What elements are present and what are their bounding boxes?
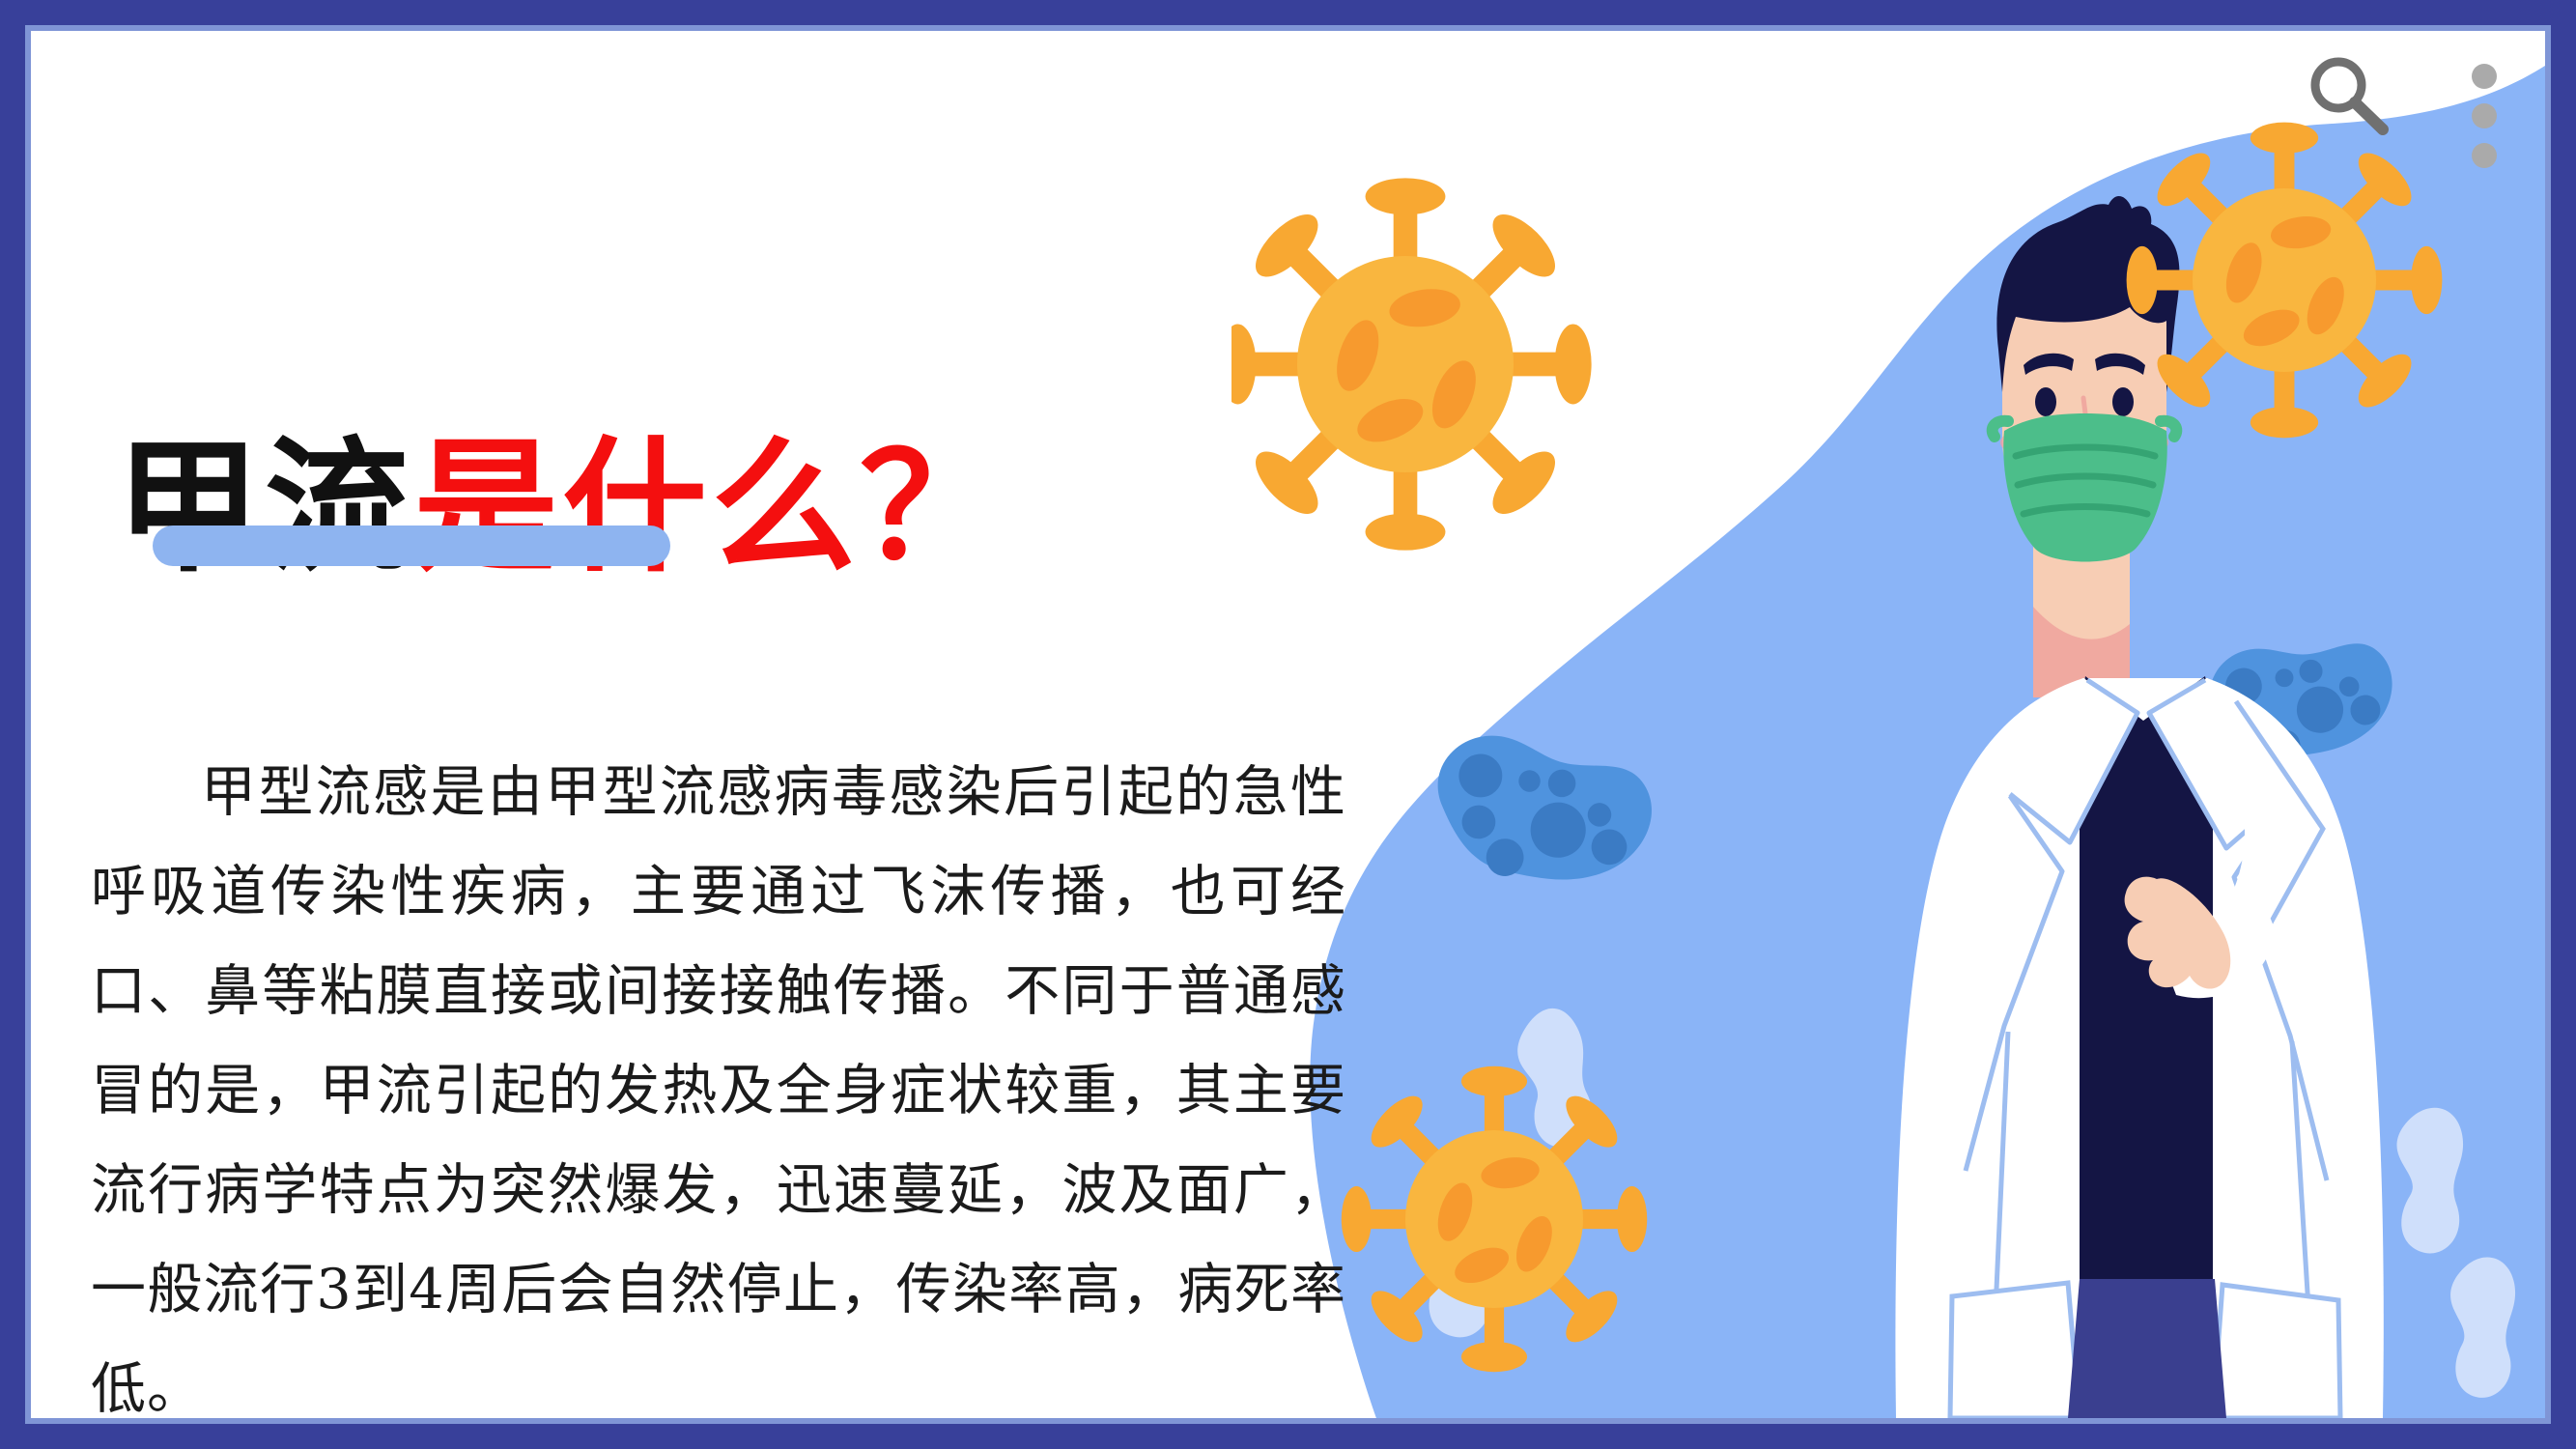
title-black-part: 甲流 xyxy=(116,424,413,592)
search-button[interactable] xyxy=(2302,52,2394,145)
more-options-button[interactable] xyxy=(2472,52,2497,168)
text-column: 甲流是什么？ 甲型流感是由甲型流感病毒感染后引起的急性呼吸道传染性疾病，主要通过… xyxy=(31,31,1383,1418)
title-underline-bar xyxy=(153,526,670,566)
virus-top-right xyxy=(2127,123,2443,439)
slide-page: 甲流是什么？ 甲型流感是由甲型流感病毒感染后引起的急性呼吸道传染性疾病，主要通过… xyxy=(31,31,2545,1418)
slide-frame: 甲流是什么？ 甲型流感是由甲型流感病毒感染后引起的急性呼吸道传染性疾病，主要通过… xyxy=(0,0,2576,1449)
title-red-part: 是什么？ xyxy=(413,424,1008,592)
illustration-doctor-viruses xyxy=(1231,31,2545,1418)
body-paragraph: 甲型流感是由甲型流感病毒感染后引起的急性呼吸道传染性疾病，主要通过飞沫传播，也可… xyxy=(91,743,1346,1418)
top-toolbar xyxy=(2302,52,2497,168)
virus-bottom-left xyxy=(1342,1066,1647,1372)
more-vertical-icon-dot-3 xyxy=(2472,143,2497,168)
more-vertical-icon-dot-2 xyxy=(2472,103,2497,128)
search-icon xyxy=(2302,133,2394,148)
more-vertical-icon-dot-1 xyxy=(2472,64,2497,89)
